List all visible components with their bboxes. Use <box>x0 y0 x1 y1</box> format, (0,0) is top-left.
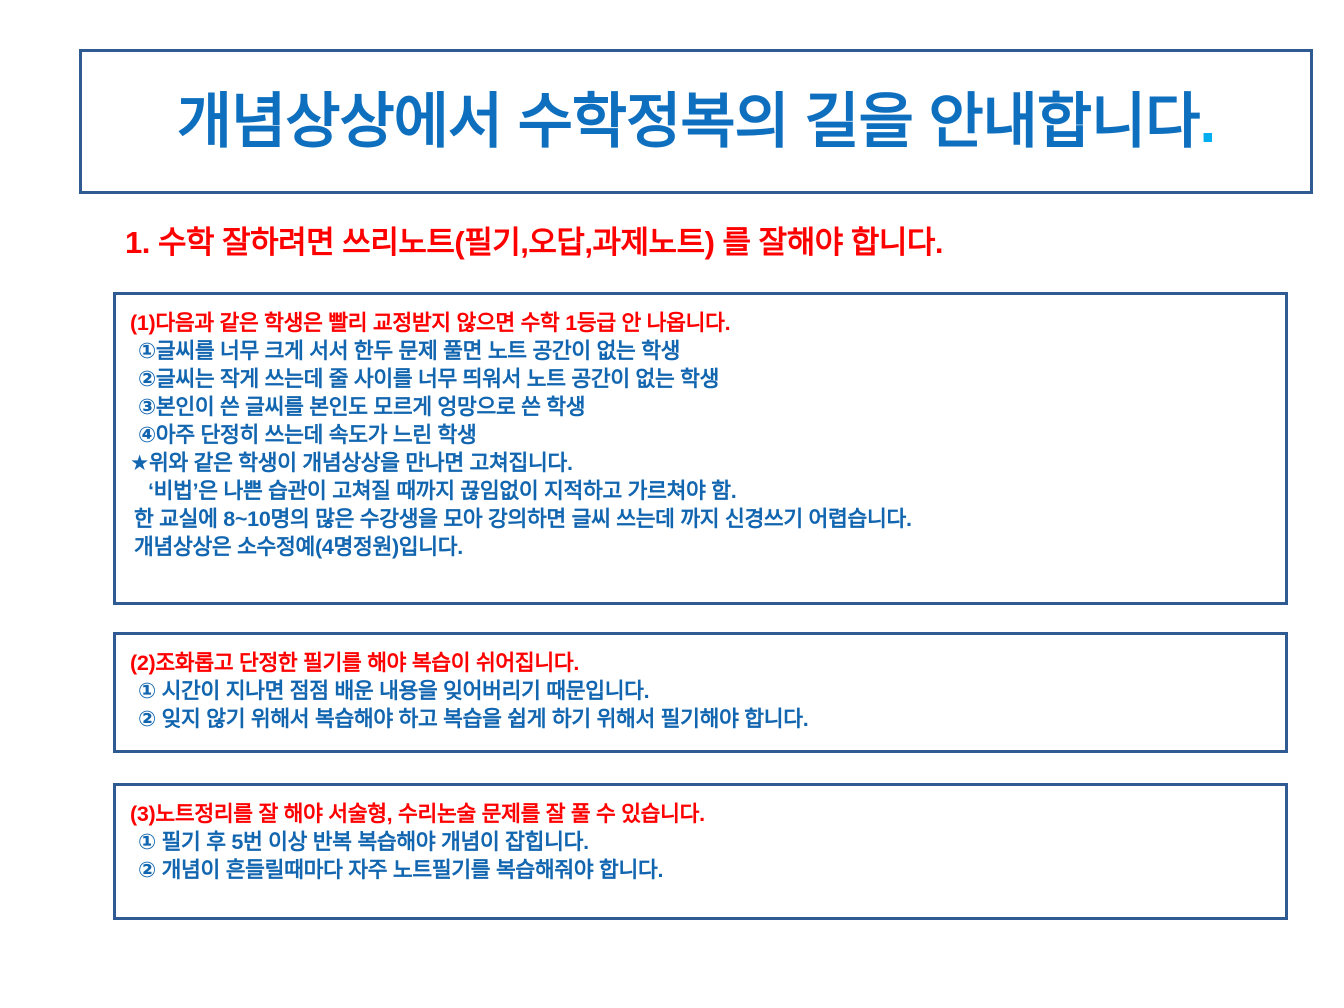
title-banner: 개념상상에서 수학정복의 길을 안내합니다. <box>79 49 1313 194</box>
box1-line-9: 개념상상은 소수정예(4명정원)입니다. <box>116 533 1285 561</box>
box1-line-1: (1)다음과 같은 학생은 빨리 교정받지 않으면 수학 1등급 안 나옵니다. <box>116 309 1285 337</box>
section-heading: 1. 수학 잘하려면 쓰리노트(필기,오답,과제노트) 를 잘해야 합니다. <box>125 224 1245 261</box>
page-title-text: 개념상상에서 수학정복의 길을 안내합니다 <box>177 88 1200 155</box>
box2-line-2: ① 시간이 지나면 점점 배운 내용을 잊어버리기 때문입니다. <box>116 677 1285 705</box>
box3-line-1: (3)노트정리를 잘 해야 서술형, 수리논술 문제를 잘 풀 수 있습니다. <box>116 800 1285 828</box>
page-title: 개념상상에서 수학정복의 길을 안내합니다. <box>171 90 1221 153</box>
box1-line-7: ‘비법’은 나쁜 습관이 고쳐질 때까지 끊임없이 지적하고 가르쳐야 함. <box>116 477 1285 505</box>
box3-line-3: ② 개념이 흔들릴때마다 자주 노트필기를 복습해줘야 합니다. <box>116 856 1285 884</box>
box2-line-1: (2)조화롭고 단정한 필기를 해야 복습이 쉬어집니다. <box>116 649 1285 677</box>
page-title-accent-dot: . <box>1199 88 1215 155</box>
content-box-2: (2)조화롭고 단정한 필기를 해야 복습이 쉬어집니다. ① 시간이 지나면 … <box>113 632 1288 753</box>
box1-line-5: ④아주 단정히 쓰는데 속도가 느린 학생 <box>116 421 1285 449</box>
content-box-3: (3)노트정리를 잘 해야 서술형, 수리논술 문제를 잘 풀 수 있습니다. … <box>113 783 1288 920</box>
box1-line-4: ③본인이 쓴 글씨를 본인도 모르게 엉망으로 쓴 학생 <box>116 393 1285 421</box>
box1-line-2: ①글씨를 너무 크게 서서 한두 문제 풀면 노트 공간이 없는 학생 <box>116 337 1285 365</box>
box3-line-2: ① 필기 후 5번 이상 반복 복습해야 개념이 잡힙니다. <box>116 828 1285 856</box>
poster-page: 개념상상에서 수학정복의 길을 안내합니다. 1. 수학 잘하려면 쓰리노트(필… <box>0 0 1344 1008</box>
box2-line-3: ② 잊지 않기 위해서 복습해야 하고 복습을 쉽게 하기 위해서 필기해야 합… <box>116 705 1285 733</box>
content-box-1: (1)다음과 같은 학생은 빨리 교정받지 않으면 수학 1등급 안 나옵니다.… <box>113 292 1288 605</box>
box1-line-8: 한 교실에 8~10명의 많은 수강생을 모아 강의하면 글씨 쓰는데 까지 신… <box>116 505 1285 533</box>
box1-line-6: ★위와 같은 학생이 개념상상을 만나면 고쳐집니다. <box>116 449 1285 477</box>
box1-line-3: ②글씨는 작게 쓰는데 줄 사이를 너무 띄워서 노트 공간이 없는 학생 <box>116 365 1285 393</box>
